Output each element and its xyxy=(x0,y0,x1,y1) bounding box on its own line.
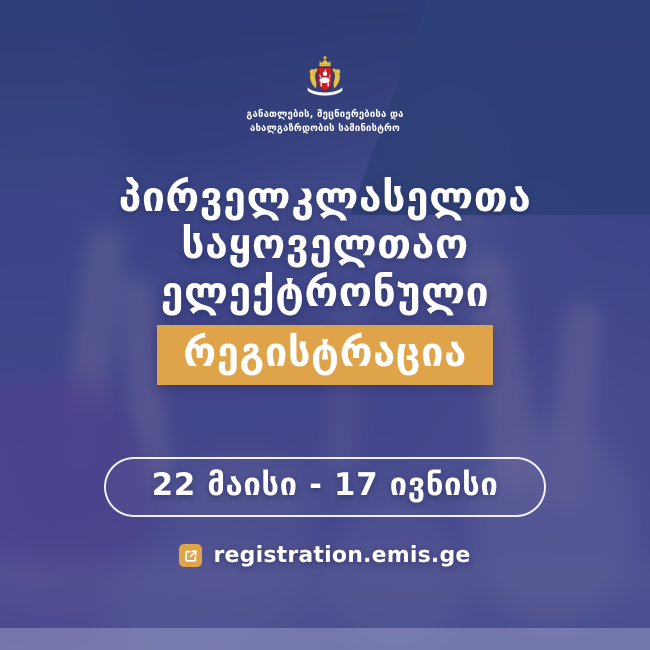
headline-line-3: ელექტრონული xyxy=(119,269,532,317)
registration-url-row[interactable]: registration.emis.ge xyxy=(179,543,470,568)
headline-line-2: საყოველთაო xyxy=(119,221,532,269)
registration-url-text[interactable]: registration.emis.ge xyxy=(213,543,470,568)
ministry-name: განათლების, მეცნიერებისა და ახალგაზრდობი… xyxy=(246,108,403,136)
georgia-coat-of-arms-icon xyxy=(302,54,348,100)
registration-badge-wrap: რეგისტრაცია xyxy=(157,325,492,385)
registration-badge: რეგისტრაცია xyxy=(157,325,492,385)
date-range-pill: 22 მაისი - 17 ივნისი xyxy=(104,457,547,517)
ministry-line-1: განათლების, მეცნიერებისა და xyxy=(246,108,403,122)
headline-line-1: პირველკლასელთა xyxy=(119,174,532,222)
poster-root: განათლების, მეცნიერებისა და ახალგაზრდობი… xyxy=(0,0,650,650)
ministry-brand: განათლების, მეცნიერებისა და ახალგაზრდობი… xyxy=(246,54,403,136)
ministry-line-2: ახალგაზრდობის სამინისტრო xyxy=(246,122,403,136)
poster-content: განათლების, მეცნიერებისა და ახალგაზრდობი… xyxy=(0,0,650,650)
external-link-icon[interactable] xyxy=(179,544,202,567)
page-title: პირველკლასელთა საყოველთაო ელექტრონული xyxy=(119,174,532,317)
